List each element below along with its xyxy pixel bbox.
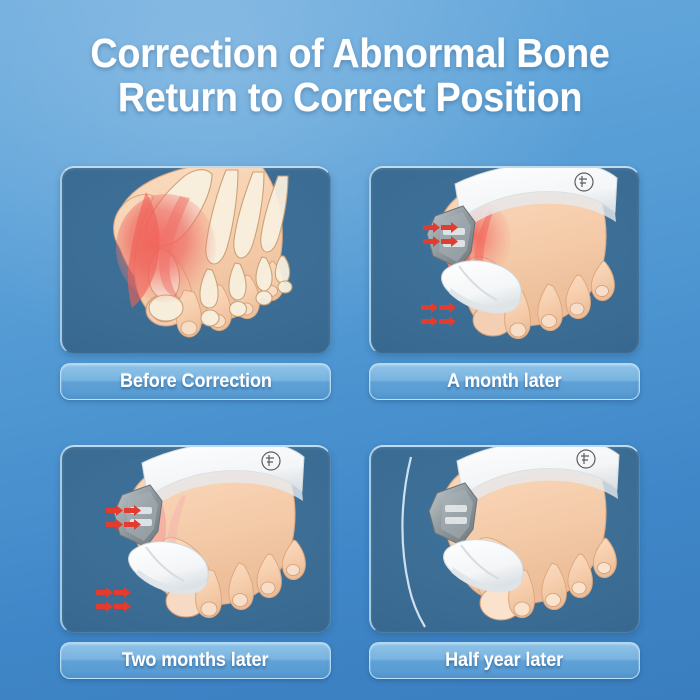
panel-label-before-correction[interactable]: Before Correction — [60, 363, 331, 400]
panel-label-two-months-later[interactable]: Two months later — [60, 642, 331, 679]
correction-arrows-lower — [421, 302, 456, 327]
label-text: Half year later — [446, 650, 564, 672]
label-text: Two months later — [122, 650, 269, 672]
illustration-panel-splint-corrected — [369, 445, 640, 633]
title-line-1: Correction of Abnormal Bone — [28, 32, 672, 76]
label-text: Before Correction — [120, 371, 272, 393]
edge-highlight-curve — [402, 457, 425, 627]
progression-grid: Before Correction — [60, 166, 640, 679]
panel-before-correction[interactable]: Before Correction — [60, 166, 331, 400]
illustration-panel-splint-month1 — [369, 166, 640, 354]
panel-half-year-later[interactable]: Half year later — [369, 445, 640, 679]
label-text: A month later — [447, 371, 561, 393]
panel-a-month-later[interactable]: A month later — [369, 166, 640, 400]
illustration-panel-splint-month2 — [60, 445, 331, 633]
panel-label-a-month-later[interactable]: A month later — [369, 363, 640, 400]
panel-label-half-year-later[interactable]: Half year later — [369, 642, 640, 679]
illustration-panel-bunion-xray — [60, 166, 331, 354]
page-title: Correction of Abnormal Bone Return to Co… — [0, 32, 700, 120]
correction-arrows-lower — [96, 587, 131, 612]
title-line-2: Return to Correct Position — [28, 76, 672, 120]
panel-two-months-later[interactable]: Two months later — [60, 445, 331, 679]
